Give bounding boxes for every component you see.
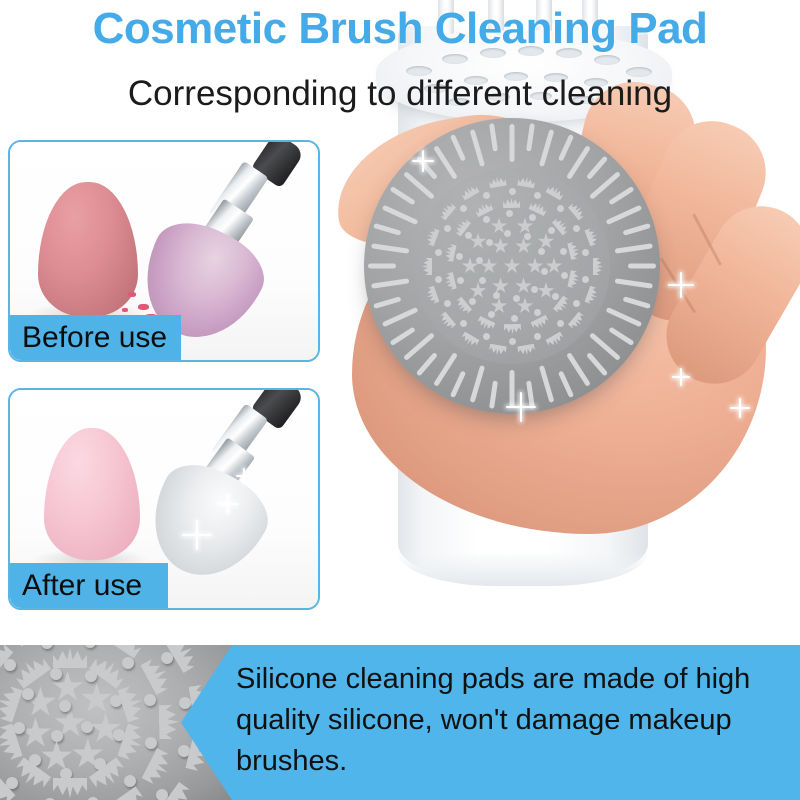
hand-holding-pad bbox=[330, 88, 796, 548]
pad-spoke bbox=[373, 296, 401, 309]
pad-dot-nub bbox=[504, 230, 511, 237]
pad-spoke bbox=[433, 352, 458, 387]
macro-dot-nub bbox=[81, 721, 93, 733]
pad-spoke bbox=[526, 380, 535, 408]
pad-spoke bbox=[539, 365, 555, 403]
pad-dot-nub bbox=[479, 277, 486, 284]
pad-dot-nub bbox=[493, 292, 500, 299]
macro-crown-nub bbox=[89, 651, 129, 689]
pad-dot-nub bbox=[534, 309, 541, 316]
pad-spoke bbox=[606, 307, 643, 327]
silicone-cleaning-pad bbox=[364, 118, 660, 414]
pad-spoke bbox=[416, 352, 438, 376]
card-caption-before: Before use bbox=[10, 315, 181, 360]
powder-speck bbox=[122, 308, 128, 312]
lid-hole bbox=[442, 54, 468, 64]
pad-spoke bbox=[489, 123, 498, 151]
feature-strip-text: Silicone cleaning pads are made of high … bbox=[236, 659, 782, 782]
macro-crown-nub bbox=[189, 684, 216, 721]
macro-dot-nub bbox=[178, 745, 190, 757]
pad-spoke bbox=[450, 370, 466, 398]
macro-star-nub bbox=[81, 683, 113, 715]
pad-spoke bbox=[586, 352, 608, 376]
pad-spoke bbox=[371, 278, 409, 288]
macro-dot-nub bbox=[161, 652, 173, 664]
pad-spoke bbox=[608, 186, 634, 205]
macro-crown-nub bbox=[53, 778, 87, 800]
macro-dot-nub bbox=[50, 668, 62, 680]
pad-dot-nub bbox=[582, 276, 589, 283]
powder-speck bbox=[138, 304, 149, 310]
pad-dot-nub bbox=[483, 192, 490, 199]
macro-dot-nub bbox=[145, 737, 157, 749]
macro-crown-nub bbox=[0, 683, 23, 722]
macro-dot-nub bbox=[124, 775, 136, 787]
pad-spoke bbox=[368, 264, 396, 269]
macro-dot-nub bbox=[156, 789, 168, 800]
comparison-card-after[interactable]: After use bbox=[8, 388, 320, 610]
pad-spoke bbox=[539, 129, 555, 167]
macro-dot-nub bbox=[122, 657, 134, 669]
pad-spoke bbox=[416, 156, 438, 180]
pad-dot-nub bbox=[557, 320, 564, 327]
beauty-sponge bbox=[44, 428, 140, 560]
pad-spoke bbox=[450, 134, 466, 162]
macro-crown-nub bbox=[11, 757, 51, 795]
pad-dot-nub bbox=[509, 338, 516, 345]
macro-crown-nub bbox=[108, 786, 148, 800]
macro-dot-nub bbox=[59, 700, 71, 712]
card-caption-text: Before use bbox=[22, 323, 167, 353]
pad-dot-nub bbox=[444, 225, 451, 232]
macro-dot-nub bbox=[6, 777, 18, 789]
feature-strip: Silicone cleaning pads are made of high … bbox=[0, 645, 800, 800]
pad-spoke bbox=[623, 223, 651, 236]
pad-spoke bbox=[371, 243, 409, 253]
pad-dot-nub bbox=[506, 210, 513, 217]
pad-spoke bbox=[586, 156, 608, 180]
macro-dot-nub bbox=[144, 694, 156, 706]
card-caption-after: After use bbox=[10, 563, 168, 608]
pad-spoke bbox=[615, 243, 653, 253]
pad-spoke bbox=[382, 307, 419, 327]
macro-dot-nub bbox=[179, 697, 191, 709]
pad-spoke bbox=[615, 278, 653, 288]
pad-spoke bbox=[628, 264, 656, 269]
macro-crown-nub bbox=[159, 705, 181, 739]
pad-spoke bbox=[510, 370, 515, 408]
pad-dot-nub bbox=[561, 272, 568, 279]
pad-spoke bbox=[470, 129, 486, 167]
pad-spoke bbox=[558, 370, 574, 398]
macro-crown-nub bbox=[53, 646, 87, 668]
macro-dot-nub bbox=[84, 645, 96, 648]
product-infographic: Cosmetic Brush Cleaning Pad Correspondin… bbox=[0, 0, 800, 800]
comparison-card-before[interactable]: Before use bbox=[8, 140, 320, 362]
macro-star-nub bbox=[20, 717, 52, 749]
page-subtitle: Corresponding to different cleaning bbox=[0, 74, 800, 114]
pad-dot-nub bbox=[529, 214, 536, 221]
page-title: Cosmetic Brush Cleaning Pad bbox=[0, 4, 800, 54]
pad-dot-nub bbox=[486, 239, 493, 246]
pad-spoke bbox=[382, 205, 419, 225]
pad-spoke bbox=[608, 327, 634, 346]
macro-crown-nub bbox=[142, 748, 177, 788]
pad-spoke bbox=[526, 123, 535, 151]
pad-spoke bbox=[489, 380, 498, 408]
pad-texture-macro-photo bbox=[0, 645, 232, 800]
pad-spoke bbox=[470, 365, 486, 403]
pad-spoke bbox=[390, 327, 416, 346]
pad-dot-nub bbox=[560, 248, 567, 255]
macro-dot-nub bbox=[51, 730, 63, 742]
pad-dot-nub bbox=[476, 257, 483, 264]
macro-crown-nub bbox=[186, 735, 215, 773]
pad-spoke bbox=[623, 296, 651, 309]
pad-dot-nub bbox=[557, 205, 564, 212]
lid-hole bbox=[594, 55, 620, 65]
macro-dot-nub bbox=[4, 659, 16, 671]
pad-dot-nub bbox=[435, 276, 442, 283]
beauty-sponge bbox=[38, 182, 138, 317]
pad-dot-nub bbox=[483, 333, 490, 340]
macro-crown-nub bbox=[11, 651, 51, 689]
pad-spoke bbox=[373, 223, 401, 236]
pad-spoke bbox=[510, 124, 515, 162]
pad-dot-nub bbox=[509, 188, 516, 195]
macro-dot-nub bbox=[41, 645, 53, 649]
pad-dot-nub bbox=[552, 293, 559, 300]
powder-speck bbox=[128, 292, 136, 297]
pad-spoke bbox=[558, 134, 574, 162]
pad-dot-nub bbox=[469, 298, 476, 305]
card-caption-text: After use bbox=[22, 571, 142, 601]
pad-spoke bbox=[390, 186, 416, 205]
pad-dot-nub bbox=[444, 300, 451, 307]
pad-spoke bbox=[606, 205, 643, 225]
